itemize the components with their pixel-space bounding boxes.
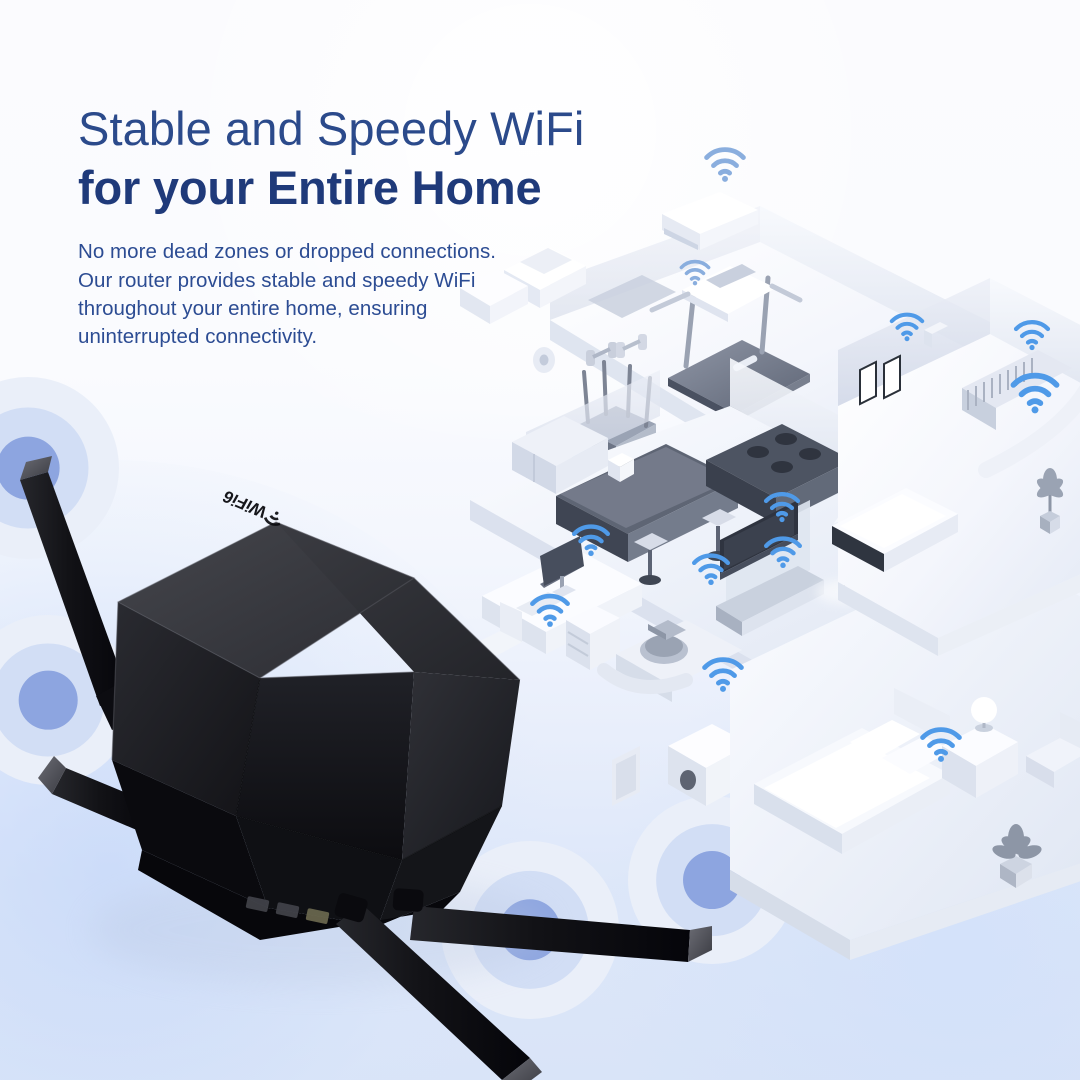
poster-canvas: Stable and Speedy WiFi for your Entire H… bbox=[0, 0, 1080, 1080]
wifi-study-right-icon bbox=[1012, 312, 1052, 352]
headline-line-2: for your Entire Home bbox=[78, 162, 738, 215]
wifi-study-left-icon bbox=[888, 305, 926, 343]
body-copy: No more dead zones or dropped connection… bbox=[78, 238, 738, 351]
product-router: WiFi6 bbox=[0, 430, 730, 1080]
router-illustration: WiFi6 bbox=[0, 430, 730, 1080]
wifi6-badge-text: WiFi6 bbox=[219, 487, 270, 521]
body-copy-line: No more dead zones or dropped connection… bbox=[78, 238, 738, 266]
wifi-radiator-icon bbox=[1008, 362, 1062, 416]
router-body: WiFi6 bbox=[112, 487, 520, 940]
body-copy-line: uninterrupted connectivity. bbox=[78, 323, 738, 351]
body-copy-line: throughout your entire home, ensuring bbox=[78, 295, 738, 323]
wifi-treadmill-icon bbox=[762, 484, 802, 524]
copy-block: Stable and Speedy WiFi for your Entire H… bbox=[78, 104, 738, 352]
wifi-nightstand-icon bbox=[918, 718, 964, 764]
body-copy-line: Our router provides stable and speedy Wi… bbox=[78, 267, 738, 295]
headline-line-1: Stable and Speedy WiFi bbox=[78, 104, 738, 154]
wifi-tv-icon bbox=[762, 528, 804, 570]
